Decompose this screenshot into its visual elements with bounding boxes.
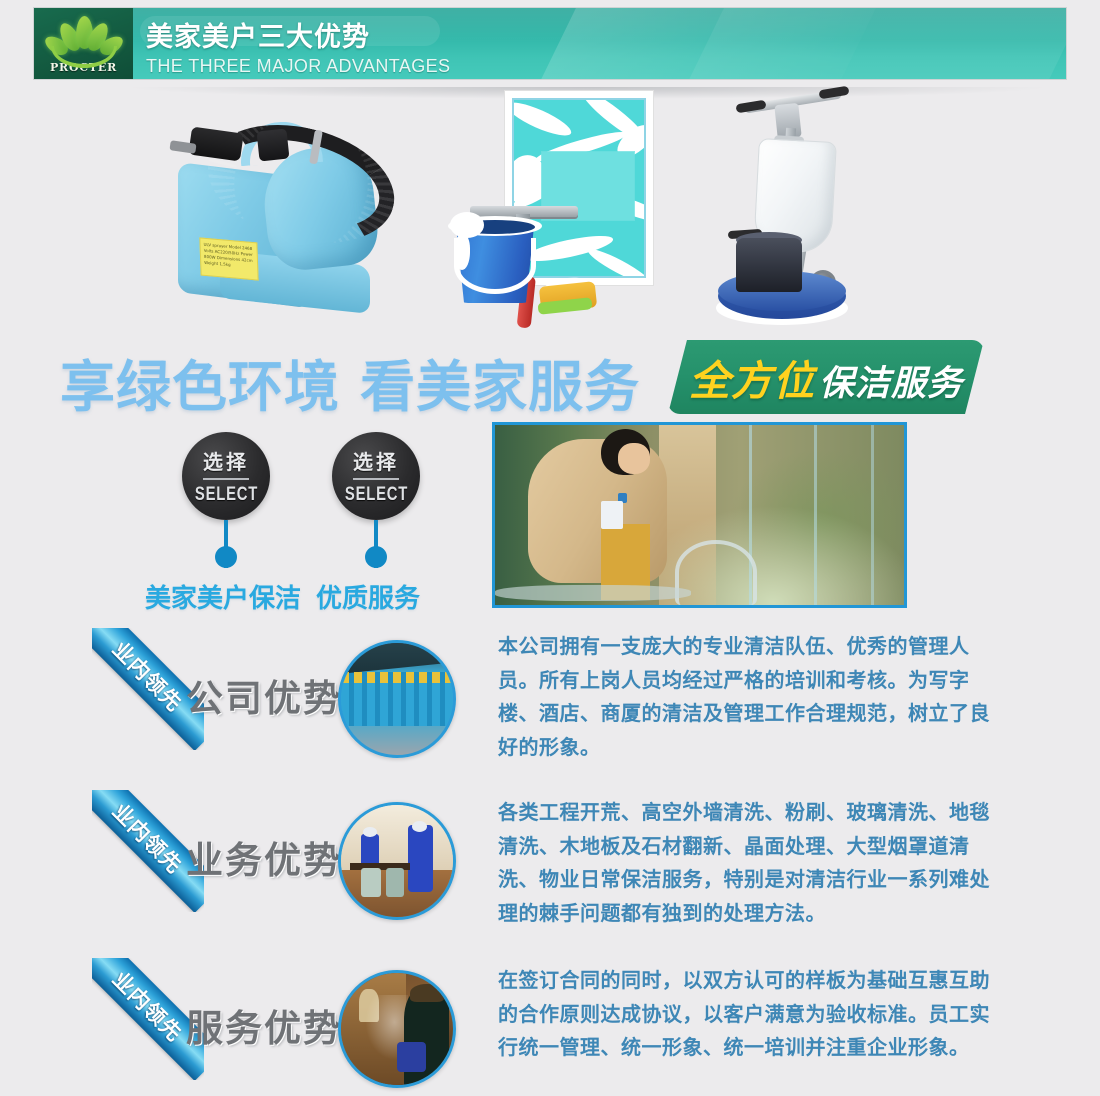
select-dot-2 [365, 546, 387, 568]
company-logo: PROCTER [34, 8, 133, 80]
advantage-text-1: 本公司拥有一支庞大的专业清洁队伍、优秀的管理人员。所有上岗人员均经过严格的培训和… [498, 630, 1010, 764]
promo-page: PROCTER 美家美户三大优势 THE THREE MAJOR ADVANTA… [0, 0, 1100, 1096]
page-header: PROCTER 美家美户三大优势 THE THREE MAJOR ADVANTA… [33, 7, 1067, 80]
worker-cleaning-photo [492, 422, 907, 608]
full-service-badge: 全方位 保洁服务 [668, 340, 984, 414]
advantage-title-1: 公司优势 [186, 668, 342, 722]
ribbon-text-1: 业内领先 [106, 634, 189, 717]
header-banner: PROCTER 美家美户三大优势 THE THREE MAJOR ADVANTA… [33, 7, 1067, 80]
leaves-crown-icon [45, 16, 123, 60]
header-title-en: THE THREE MAJOR ADVANTAGES [146, 56, 450, 77]
ribbon-text-2: 业内领先 [106, 796, 189, 879]
polisher-motor [736, 238, 802, 292]
select-dot-1 [215, 546, 237, 568]
header-title-cn: 美家美户三大优势 [146, 15, 450, 54]
hero-headline: 享绿色环境 看美家服务 [60, 342, 640, 422]
select-circle-2[interactable]: 选择 SELECT [332, 432, 420, 520]
sprayer-spec-label: ULV sprayer Model 2468 Volts AC220/50Hz … [199, 237, 258, 280]
select-label-1: 美家美户保洁 [145, 578, 301, 615]
ulv-sprayer-image: ULV sprayer Model 2468 Volts AC220/50Hz … [160, 100, 420, 325]
advantage-thumb-2 [338, 802, 456, 920]
select-circle-2-cn: 选择 [353, 446, 399, 480]
advantage-thumb-1 [338, 640, 456, 758]
floor-polisher-image [714, 88, 914, 333]
select-circle-1-cn: 选择 [203, 446, 249, 480]
header-diagonal-stripe-2 [661, 7, 1067, 80]
badge-rest-text: 保洁服务 [819, 355, 963, 406]
employee-id-badge [601, 501, 623, 529]
advantage-title-3: 服务优势 [186, 998, 342, 1052]
select-circle-1-en: SELECT [194, 484, 257, 506]
product-image-row: ULV sprayer Model 2468 Volts AC220/50Hz … [0, 88, 1100, 338]
advantage-title-2: 业务优势 [186, 830, 342, 884]
select-label-2: 优质服务 [316, 578, 420, 615]
select-circle-2-en: SELECT [344, 484, 407, 506]
advantage-text-2: 各类工程开荒、高空外墙清洗、粉刷、玻璃清洗、地毯清洗、木地板及石材翻新、晶面处理… [498, 796, 1010, 930]
advantage-thumb-3 [338, 970, 456, 1088]
window-cleaning-illustration [448, 88, 683, 328]
select-circle-1[interactable]: 选择 SELECT [182, 432, 270, 520]
ribbon-text-3: 业内领先 [106, 964, 189, 1047]
header-titles: 美家美户三大优势 THE THREE MAJOR ADVANTAGES [146, 15, 450, 77]
advantage-text-3: 在签订合同的同时，以双方认可的样板为基础互惠互助的合作原则达成协议，以客户满意为… [498, 964, 1010, 1065]
badge-highlight-text: 全方位 [689, 347, 815, 407]
